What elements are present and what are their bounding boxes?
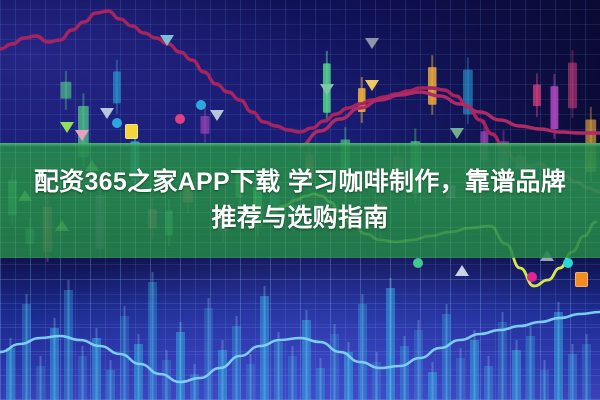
dot-marker-icon — [112, 118, 122, 128]
dot-marker-icon — [413, 258, 423, 268]
triangle-down-icon — [365, 38, 379, 49]
dot-marker-icon — [527, 272, 537, 282]
triangle-up-icon — [455, 265, 469, 276]
dot-marker-icon — [196, 100, 206, 110]
triangle-down-icon — [365, 80, 379, 91]
dot-marker-icon — [563, 258, 573, 268]
square-marker-icon — [575, 272, 588, 287]
triangle-down-icon — [160, 35, 174, 46]
triangle-down-icon — [75, 130, 89, 141]
square-marker-icon — [125, 124, 138, 139]
triangle-down-icon — [60, 122, 74, 133]
banner-image: 配资365之家APP下载 学习咖啡制作，靠谱品牌 推荐与选购指南 — [0, 0, 600, 400]
triangle-down-icon — [100, 108, 114, 119]
banner-title: 配资365之家APP下载 学习咖啡制作，靠谱品牌 推荐与选购指南 — [0, 143, 600, 258]
triangle-down-icon — [320, 84, 334, 95]
title-line-2: 推荐与选购指南 — [211, 204, 388, 234]
triangle-down-icon — [210, 110, 224, 121]
triangle-down-icon — [450, 128, 464, 139]
dot-marker-icon — [175, 114, 185, 124]
title-line-1: 配资365之家APP下载 学习咖啡制作，靠谱品牌 — [34, 168, 566, 198]
